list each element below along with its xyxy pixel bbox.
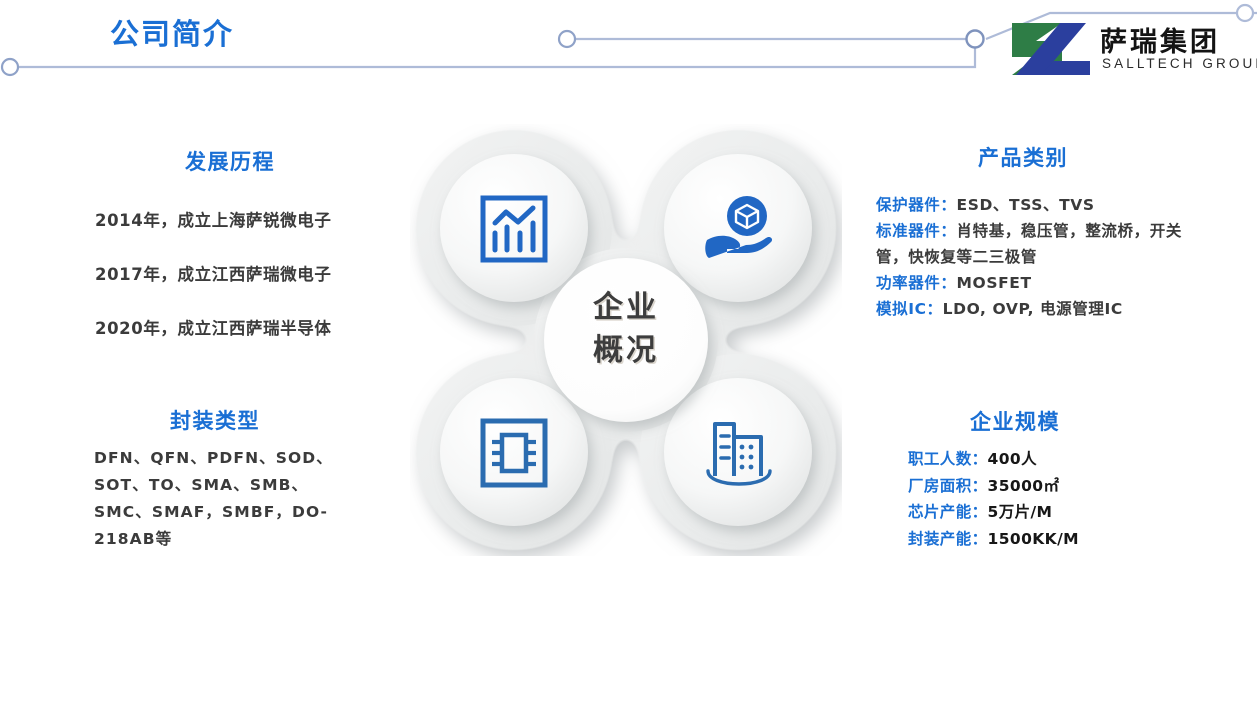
section-title-history: 发展历程 [0,146,460,176]
scale-label: 职工人数： [908,450,988,468]
scale-value: 35000㎡ [988,477,1060,495]
scale-row: 职工人数：400人 [908,446,1208,473]
scale-row: 厂房面积：35000㎡ [908,473,1208,500]
blob-shape [410,124,842,556]
product-row: 标准器件：肖特基，稳压管，整流桥，开关管，快恢复等二三极管 [876,218,1196,270]
product-label: 模拟IC： [876,300,943,318]
scale-value: 1500KK/M [988,530,1079,548]
node-bottom-left [440,378,588,526]
node-bottom-right [664,378,812,526]
scale-row: 芯片产能：5万片/M [908,499,1208,526]
product-row: 功率器件：MOSFET [876,270,1196,296]
logo-chinese-name: 萨瑞集团 [1100,20,1220,59]
list-item: 2017年，成立江西萨瑞微电子 [95,248,425,302]
node-top-left [440,154,588,302]
enterprise-scale-list: 职工人数：400人 厂房面积：35000㎡ 芯片产能：5万片/M 封装产能：15… [908,446,1208,552]
history-list: 2014年，成立上海萨锐微电子 2017年，成立江西萨瑞微电子 2020年，成立… [95,194,425,356]
product-value: LDO, OVP, 电源管理IC [943,300,1123,318]
product-row: 保护器件：ESD、TSS、TVS [876,192,1196,218]
product-value: ESD、TSS、TVS [957,196,1095,214]
product-label: 标准器件： [876,222,957,240]
page-title: 公司简介 [110,11,234,53]
scale-value: 400人 [988,450,1037,468]
deco-node-center [967,31,984,48]
deco-node-left [2,59,18,75]
list-item: 2014年，成立上海萨锐微电子 [95,194,425,248]
salltech-logo-mark-icon [1010,21,1092,77]
page-header: 公司简介 萨瑞集团 SALLTECH GROUP [0,0,1257,100]
product-value: MOSFET [957,274,1032,292]
company-logo[interactable]: 萨瑞集团 SALLTECH GROUP [1010,18,1250,80]
list-item: 2020年，成立江西萨瑞半导体 [95,302,425,356]
package-type-text: DFN、QFN、PDFN、SOD、SOT、TO、SMA、SMB、SMC、SMAF… [94,445,342,553]
section-title-product: 产品类别 [840,142,1206,172]
scale-value: 5万片/M [988,503,1053,521]
logo-english-name: SALLTECH GROUP [1102,56,1257,71]
scale-label: 封装产能： [908,530,988,548]
product-category-list: 保护器件：ESD、TSS、TVS 标准器件：肖特基，稳压管，整流桥，开关管，快恢… [876,192,1196,322]
product-row: 模拟IC：LDO, OVP, 电源管理IC [876,296,1196,322]
scale-label: 芯片产能： [908,503,988,521]
scale-row: 封装产能：1500KK/M [908,526,1208,553]
node-top-right [664,154,812,302]
section-title-scale: 企业规模 [840,406,1190,436]
enterprise-overview-diagram: 企业 概况 [410,124,842,556]
product-label: 功率器件： [876,274,957,292]
node-center [544,258,708,422]
section-title-package: 封装类型 [0,405,430,435]
product-label: 保护器件： [876,196,957,214]
scale-label: 厂房面积： [908,477,988,495]
deco-node-mid [559,31,575,47]
